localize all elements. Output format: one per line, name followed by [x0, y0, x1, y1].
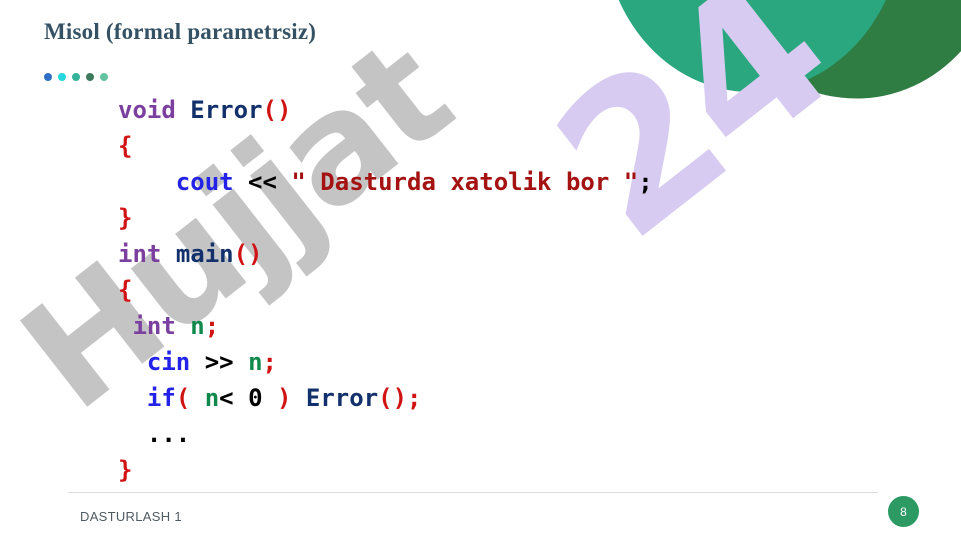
page-title: Misol (formal parametrsiz) — [44, 19, 316, 45]
dot-blue — [44, 73, 52, 81]
code-token-punctuation_red: { — [118, 276, 132, 304]
code-token-plain — [161, 240, 175, 268]
code-token-stream: if — [147, 384, 176, 412]
code-token-plain — [277, 168, 291, 196]
code-token-punctuation_red: () — [234, 240, 263, 268]
dot-dark-green — [86, 73, 94, 81]
code-token-punctuation_red: { — [118, 132, 132, 160]
code-token-plain — [263, 384, 277, 412]
code-token-function: Error — [190, 96, 262, 124]
code-line: if( n< 0 ) Error(); — [118, 380, 653, 416]
code-token-function: main — [176, 240, 234, 268]
code-token-punctuation_red: ; — [263, 348, 277, 376]
code-line: cout << " Dasturda xatolik bor "; — [118, 164, 653, 200]
code-token-punctuation_red: ( — [176, 384, 190, 412]
code-line: void Error() — [118, 92, 653, 128]
code-token-plain — [190, 384, 204, 412]
code-line: cin >> n; — [118, 344, 653, 380]
dot-teal — [72, 73, 80, 81]
code-token-plain — [176, 312, 190, 340]
code-line: } — [118, 452, 653, 488]
code-token-plain — [234, 168, 248, 196]
code-token-plain — [190, 348, 204, 376]
dot-cyan — [58, 73, 66, 81]
code-token-operator: << — [248, 168, 277, 196]
code-token-stream: cout — [176, 168, 234, 196]
code-token-punctuation_red: ) — [277, 384, 291, 412]
dot-light-green — [100, 73, 108, 81]
code-token-variable: n — [205, 384, 219, 412]
footer-divider — [68, 492, 878, 493]
code-indent — [118, 384, 147, 412]
code-token-keyword: int — [118, 240, 161, 268]
code-token-operator: ; — [638, 168, 652, 196]
footer-label: DASTURLASH 1 — [80, 509, 182, 524]
bullet-dots — [44, 73, 108, 81]
code-token-punctuation_red: ; — [205, 312, 219, 340]
code-token-function: Error — [306, 384, 378, 412]
code-token-operator: >> — [205, 348, 234, 376]
code-token-punctuation_red: (); — [378, 384, 421, 412]
code-token-operator: < 0 — [219, 384, 262, 412]
code-line: int n; — [118, 308, 653, 344]
dark-green-blob-shape — [700, 0, 961, 120]
code-token-punctuation_red: } — [118, 204, 132, 232]
code-token-variable: n — [248, 348, 262, 376]
code-line: } — [118, 200, 653, 236]
code-indent — [118, 312, 132, 340]
code-line: { — [118, 128, 653, 164]
code-line: ... — [118, 416, 653, 452]
code-token-variable: n — [190, 312, 204, 340]
code-line: { — [118, 272, 653, 308]
code-token-punctuation_red: () — [263, 96, 292, 124]
code-line: int main() — [118, 236, 653, 272]
code-token-keyword: void — [118, 96, 176, 124]
code-indent — [118, 420, 147, 448]
page-number-badge: 8 — [888, 496, 919, 527]
code-token-operator: ... — [147, 420, 190, 448]
code-token-keyword: int — [132, 312, 175, 340]
code-indent — [118, 168, 176, 196]
code-block: void Error(){ cout << " Dasturda xatolik… — [118, 92, 653, 488]
code-indent — [118, 348, 147, 376]
teal-blob-shape — [592, 0, 906, 102]
code-token-stream: cin — [147, 348, 190, 376]
code-token-plain — [234, 348, 248, 376]
code-token-punctuation_red: } — [118, 456, 132, 484]
code-token-plain — [176, 96, 190, 124]
code-token-string: " Dasturda xatolik bor " — [291, 168, 638, 196]
slide: 24 Hujjat Misol (formal parametrsiz) voi… — [0, 0, 961, 540]
code-token-plain — [291, 384, 305, 412]
